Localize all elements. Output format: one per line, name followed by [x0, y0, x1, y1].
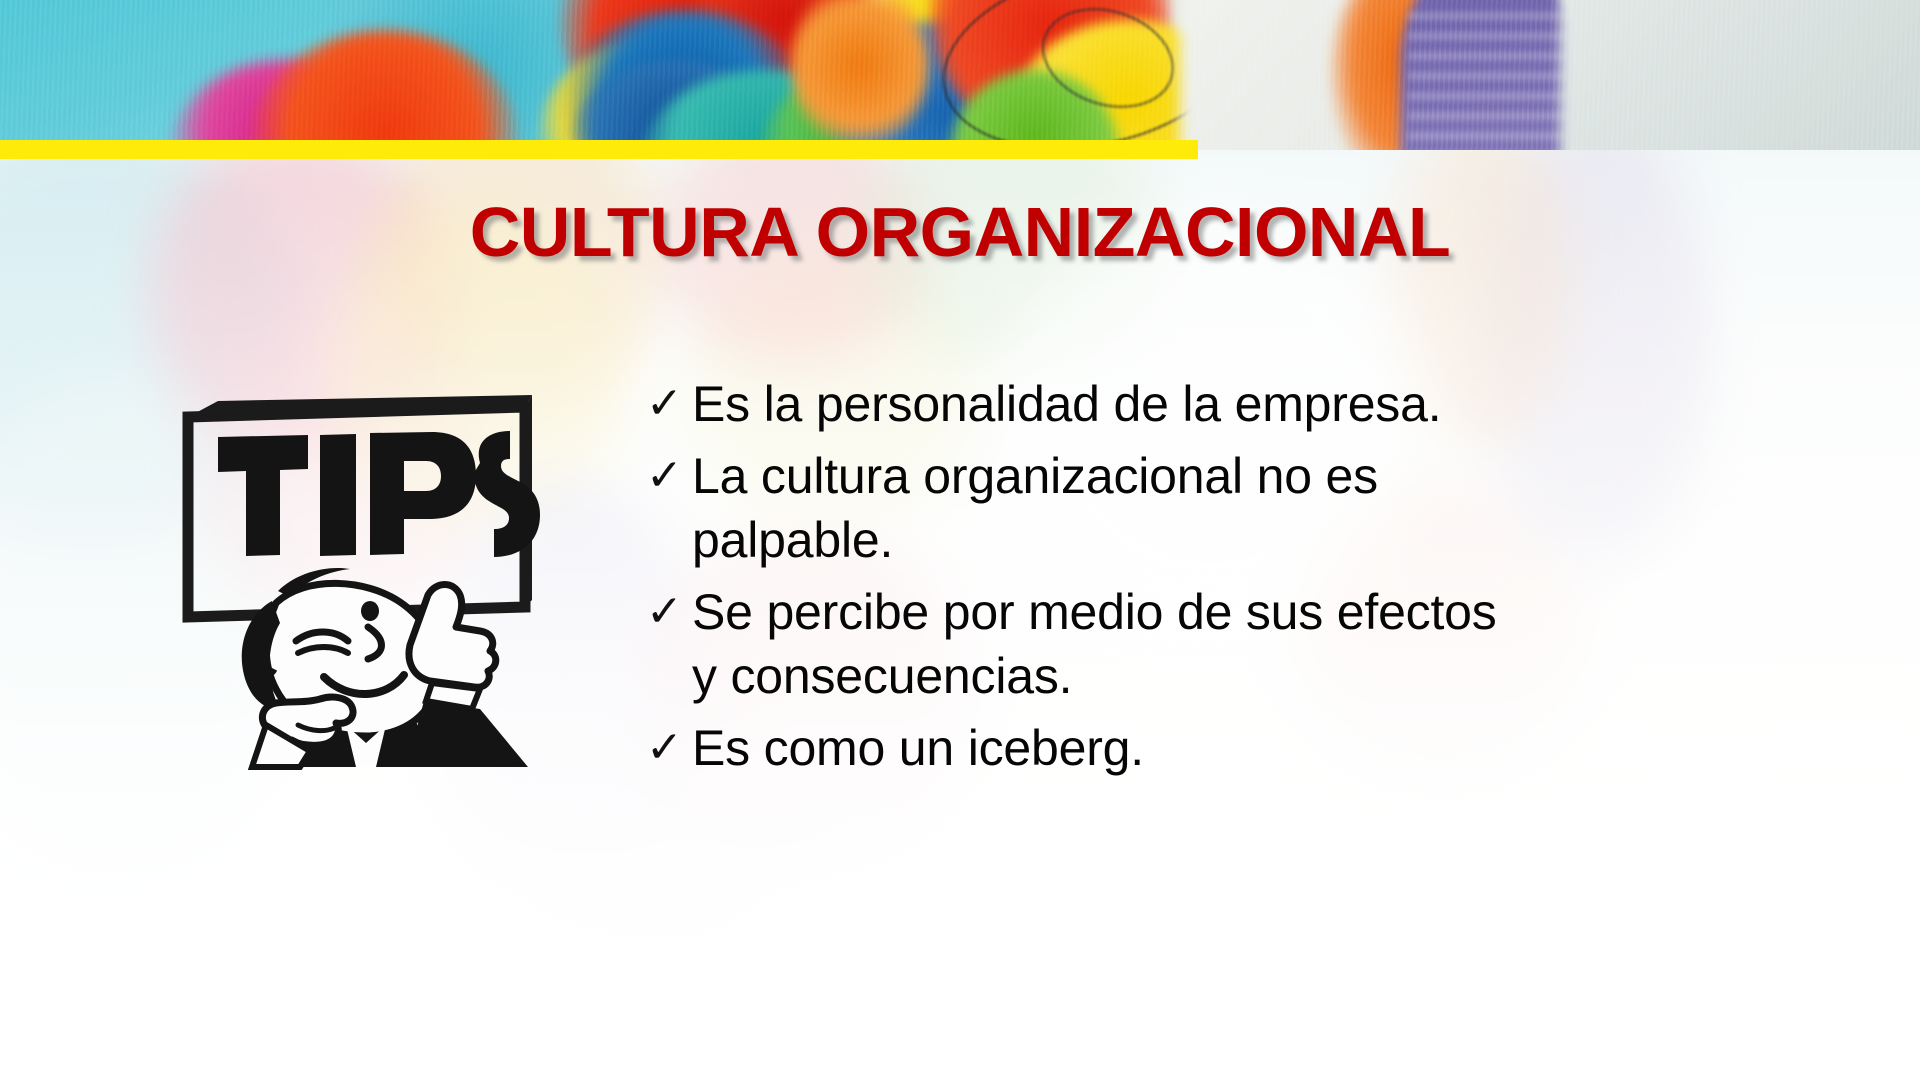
- check-icon: ✓: [640, 372, 692, 436]
- presentation-slide: CULTURA ORGANIZACIONAL: [0, 0, 1920, 1080]
- bullet-item: ✓ Es como un iceberg.: [640, 716, 1500, 780]
- bullet-text: Es la personalidad de la empresa.: [692, 372, 1500, 436]
- bullet-item: ✓ Es la personalidad de la empresa.: [640, 372, 1500, 436]
- check-icon: ✓: [640, 580, 692, 644]
- check-icon: ✓: [640, 444, 692, 508]
- bullet-text: La cultura organizacional no es palpable…: [692, 444, 1500, 572]
- bullet-item: ✓ La cultura organizacional no es palpab…: [640, 444, 1500, 572]
- header-banner-image: [0, 0, 1920, 150]
- slide-title: CULTURA ORGANIZACIONAL: [0, 192, 1920, 272]
- bullet-list: ✓ Es la personalidad de la empresa. ✓ La…: [640, 372, 1500, 788]
- banner-paint-texture: [0, 0, 1920, 150]
- bullet-item: ✓ Se percibe por medio de sus efectos y …: [640, 580, 1500, 708]
- check-icon: ✓: [640, 716, 692, 780]
- bullet-text: Se percibe por medio de sus efectos y co…: [692, 580, 1500, 708]
- tips-clipart-image: [180, 395, 550, 770]
- bullet-text: Es como un iceberg.: [692, 716, 1500, 780]
- yellow-accent-bar: [0, 140, 1198, 159]
